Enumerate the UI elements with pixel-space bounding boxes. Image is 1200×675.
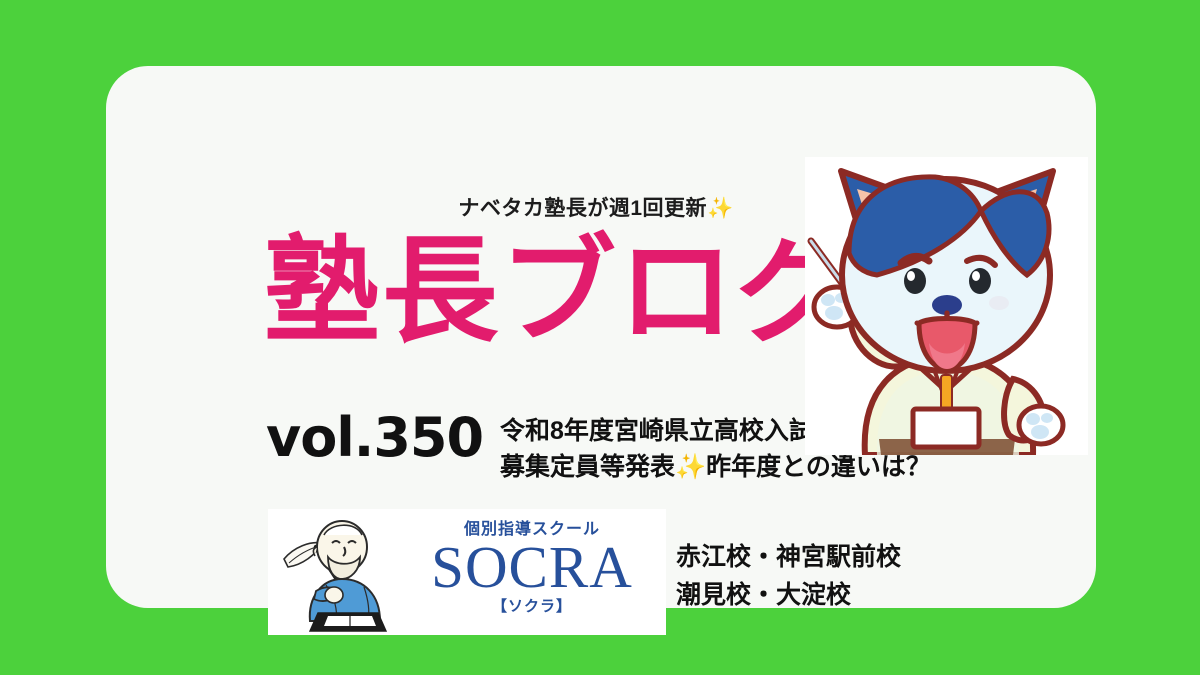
socra-wordmark: SOCRA (404, 539, 660, 597)
sparkle-icon: ✨ (707, 197, 734, 220)
volume-label: vol.350 (266, 406, 483, 469)
poster-canvas: ナベタカ塾長が週1回更新✨ 塾長ブログ vol.350 令和8年度宮崎県立高校入… (0, 0, 1200, 675)
cat-teacher-mascot-icon (805, 157, 1088, 455)
socra-logo: 個別指導スクール SOCRA 【ソクラ】 (268, 509, 666, 635)
subtitle-line-2-a: 募集定員等発表 (500, 453, 675, 481)
page-title: 塾長ブログ (264, 234, 854, 350)
kicker-label: ナベタカ塾長が週1回更新 (458, 197, 707, 220)
campus-line-2: 潮見校・大淀校 (676, 577, 901, 615)
socrates-illustration-icon (276, 513, 400, 633)
sparkle-icon: ✨ (675, 453, 706, 481)
campus-line-1: 赤江校・神宮駅前校 (676, 539, 901, 577)
mascot-image (805, 157, 1088, 455)
socra-logo-text: 個別指導スクール SOCRA 【ソクラ】 (404, 515, 660, 616)
campus-list: 赤江校・神宮駅前校 潮見校・大淀校 (676, 539, 901, 614)
subtitle-line-2-b: 昨年度との違いは？ (706, 453, 931, 481)
